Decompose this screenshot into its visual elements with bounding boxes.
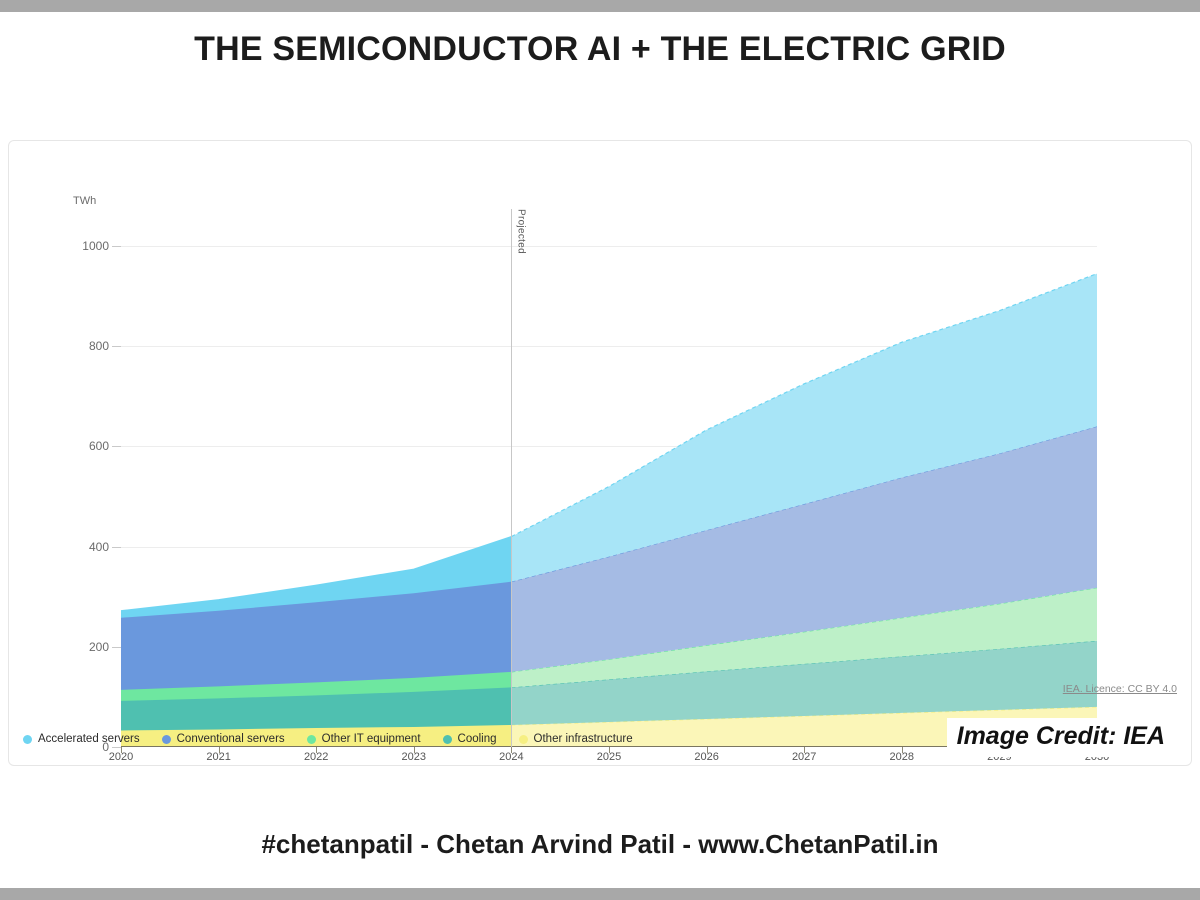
slide-canvas: THE SEMICONDUCTOR AI + THE ELECTRIC GRID… [0, 12, 1200, 888]
image-credit: Image Credit: IEA [947, 718, 1173, 757]
bottom-gray-bar [0, 888, 1200, 900]
x-tick-mark [609, 747, 610, 753]
y-tick-label: 800 [49, 339, 109, 353]
x-tick-mark [121, 747, 122, 753]
projected-annotation: Projected [515, 209, 526, 254]
licence-note[interactable]: IEA. Licence: CC BY 4.0 [1063, 683, 1177, 695]
legend-label: Other infrastructure [534, 733, 633, 745]
chart-card: TWh 02004006008001000 202020212022202320… [8, 140, 1192, 766]
y-axis-unit-label: TWh [73, 195, 96, 207]
legend-label: Accelerated servers [38, 733, 140, 745]
legend-label: Other IT equipment [322, 733, 421, 745]
x-tick-mark [316, 747, 317, 753]
legend-item[interactable]: Cooling [443, 733, 497, 745]
x-tick-mark [902, 747, 903, 753]
x-tick-mark [219, 747, 220, 753]
legend-item[interactable]: Other IT equipment [307, 733, 421, 745]
projected-divider-line [511, 209, 512, 747]
x-tick-mark [414, 747, 415, 753]
y-tick-mark [112, 346, 121, 347]
page-title: THE SEMICONDUCTOR AI + THE ELECTRIC GRID [0, 30, 1200, 69]
legend-label: Cooling [458, 733, 497, 745]
footer-attribution: #chetanpatil - Chetan Arvind Patil - www… [0, 829, 1200, 860]
chart-legend: Accelerated serversConventional serversO… [23, 733, 633, 745]
legend-swatch-icon [443, 735, 452, 744]
legend-swatch-icon [519, 735, 528, 744]
y-tick-label: 1000 [49, 239, 109, 253]
y-tick-mark [112, 647, 121, 648]
x-tick-mark [511, 747, 512, 753]
legend-item[interactable]: Accelerated servers [23, 733, 140, 745]
y-tick-mark [112, 747, 121, 748]
y-tick-label: 200 [49, 640, 109, 654]
y-tick-mark [112, 246, 121, 247]
legend-item[interactable]: Other infrastructure [519, 733, 633, 745]
legend-label: Conventional servers [177, 733, 285, 745]
y-tick-mark [112, 547, 121, 548]
legend-swatch-icon [162, 735, 171, 744]
y-tick-label: 400 [49, 540, 109, 554]
legend-item[interactable]: Conventional servers [162, 733, 285, 745]
y-tick-label: 600 [49, 439, 109, 453]
stacked-area-series [121, 221, 1097, 747]
x-tick-mark [707, 747, 708, 753]
legend-swatch-icon [23, 735, 32, 744]
legend-swatch-icon [307, 735, 316, 744]
x-tick-mark [804, 747, 805, 753]
chart-plot-area: 02004006008001000 2020202120222023202420… [121, 221, 1097, 747]
top-gray-bar [0, 0, 1200, 12]
y-tick-mark [112, 446, 121, 447]
